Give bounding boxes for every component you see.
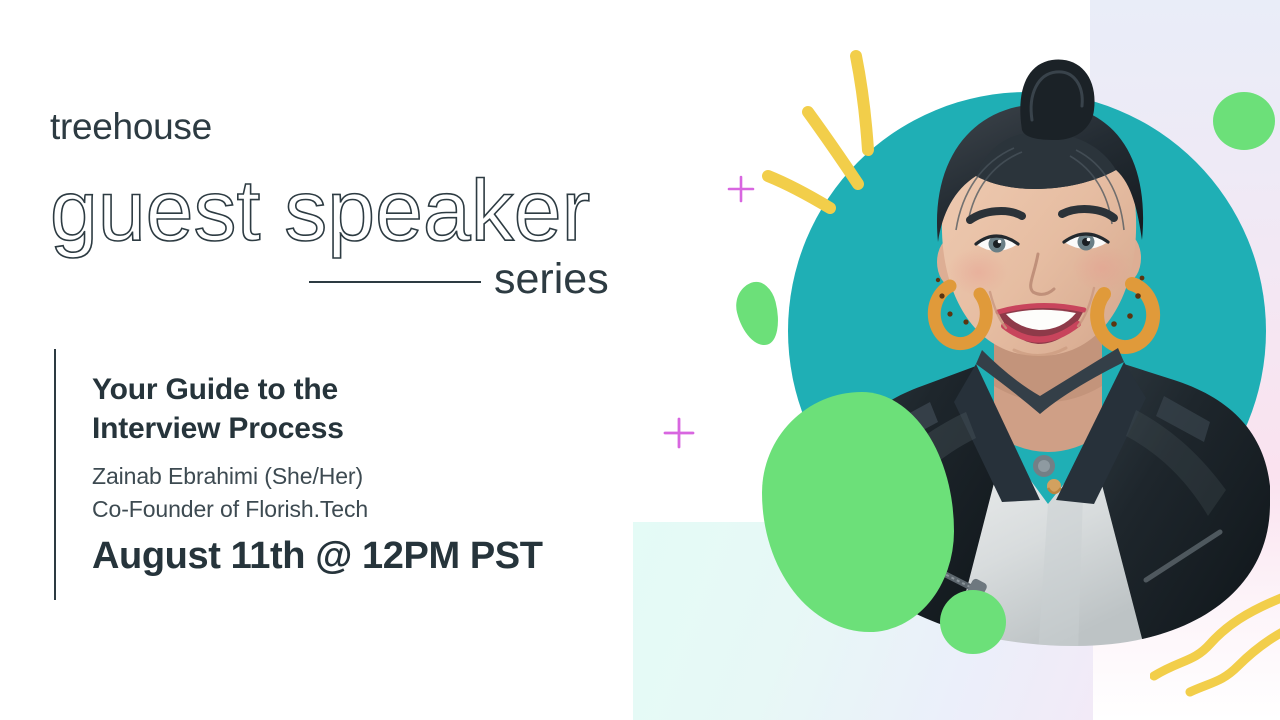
brand-wordmark: treehouse xyxy=(50,108,212,145)
svg-text:guest speaker: guest speaker xyxy=(50,163,590,259)
green-circle-topright-icon xyxy=(1213,92,1275,150)
promo-graphic: treehouse guest speaker series Your Guid… xyxy=(0,0,1280,720)
session-title: Your Guide to the Interview Process xyxy=(92,370,612,448)
session-title-line-2: Interview Process xyxy=(92,409,612,448)
green-circle-icon xyxy=(940,590,1006,654)
green-blob-small-icon xyxy=(731,278,785,350)
speaker-details: Zainab Ebrahimi (She/Her) Co-Founder of … xyxy=(92,460,612,525)
series-label: series xyxy=(494,258,609,301)
session-title-line-1: Your Guide to the xyxy=(92,370,612,409)
plus-mark-icon xyxy=(662,416,696,450)
session-datetime: August 11th @ 12PM PST xyxy=(92,536,652,578)
series-divider-rule xyxy=(309,281,481,283)
headline-guest-speaker: guest speaker xyxy=(42,158,682,266)
speaker-name: Zainab Ebrahimi (She/Her) xyxy=(92,460,612,493)
speaker-role: Co-Founder of Florish.Tech xyxy=(92,493,612,526)
left-accent-rule xyxy=(54,349,56,600)
plus-mark-icon xyxy=(726,174,756,204)
